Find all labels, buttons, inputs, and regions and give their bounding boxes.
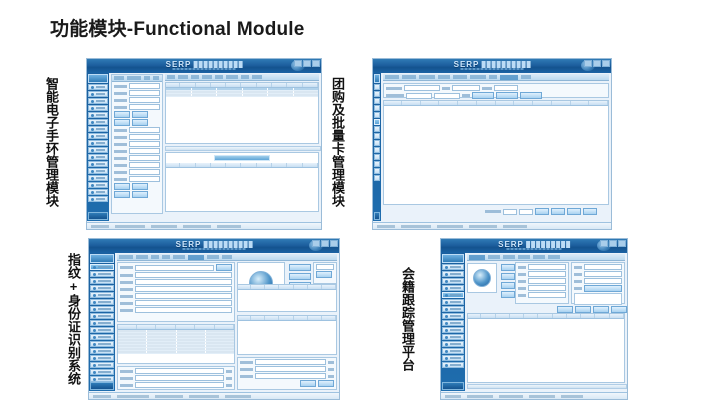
sidebar-item[interactable] <box>374 112 380 118</box>
page-title: 功能模块-Functional Module <box>50 14 305 41</box>
new-button[interactable] <box>557 306 573 313</box>
minimize-button-3[interactable] <box>312 240 320 247</box>
text-input[interactable] <box>129 90 160 96</box>
search-button[interactable] <box>316 271 332 278</box>
action-button[interactable] <box>132 183 148 190</box>
dropdown-select[interactable] <box>528 285 566 291</box>
first-page-button[interactable] <box>535 208 549 215</box>
form-actions-4[interactable] <box>539 306 627 313</box>
search-input[interactable] <box>316 264 334 270</box>
sidebar-item[interactable] <box>88 98 108 104</box>
main-tabbar-1[interactable] <box>165 74 319 81</box>
checkbox[interactable] <box>226 377 232 380</box>
sidebar-item[interactable] <box>88 175 108 181</box>
sidebar-item[interactable] <box>90 313 114 319</box>
sidebar-1[interactable] <box>87 73 109 221</box>
text-input[interactable] <box>135 272 232 278</box>
sidebar-footer-2 <box>374 212 380 220</box>
action-button[interactable] <box>114 191 130 198</box>
sidebar-item[interactable] <box>88 154 108 160</box>
grid-header-row[interactable] <box>468 314 624 319</box>
options-panel-left-3[interactable] <box>117 366 235 390</box>
field-label <box>114 106 127 109</box>
field-label <box>240 375 253 378</box>
checkbox[interactable] <box>328 368 334 371</box>
field-label <box>574 287 582 290</box>
app-window-3[interactable]: SERP <box>88 238 340 400</box>
text-input[interactable] <box>584 278 622 284</box>
text-input[interactable] <box>584 264 622 270</box>
pager-label <box>485 210 501 213</box>
app-subtitle-cn-2 <box>481 61 530 68</box>
member-photo-placeholder <box>473 269 491 287</box>
text-input[interactable] <box>129 155 160 161</box>
close-button-3[interactable] <box>330 240 338 247</box>
field-label <box>574 266 582 269</box>
titlebar-2: SERP <box>373 59 611 73</box>
sidebar-header-3 <box>90 254 114 263</box>
app-subtitle-cn-4 <box>526 241 570 248</box>
text-input[interactable] <box>255 373 326 379</box>
field-label <box>114 129 127 132</box>
maximize-button-3[interactable] <box>321 240 329 247</box>
text-input[interactable] <box>528 271 566 277</box>
text-input[interactable] <box>255 359 326 365</box>
field-label <box>518 294 526 297</box>
grid-header-row[interactable] <box>166 163 318 168</box>
sidebar-item[interactable] <box>88 133 108 139</box>
search-button[interactable] <box>584 285 622 292</box>
text-input[interactable] <box>528 264 566 270</box>
field-label <box>120 302 133 305</box>
sidebar-item[interactable] <box>90 348 114 354</box>
action-button[interactable] <box>501 273 515 280</box>
action-button[interactable] <box>132 111 148 118</box>
next-page-button[interactable] <box>567 208 581 215</box>
text-input[interactable] <box>584 271 622 277</box>
maximize-button-4[interactable] <box>609 240 617 247</box>
photo-panel-4 <box>467 263 497 293</box>
sidebar-item[interactable] <box>90 320 114 326</box>
app-subtitle-2 <box>461 68 524 70</box>
field-label <box>386 87 402 90</box>
field-label <box>120 295 133 298</box>
sidebar-item[interactable] <box>374 84 380 90</box>
text-input[interactable] <box>135 382 224 388</box>
sidebar-item[interactable] <box>374 147 380 153</box>
text-input[interactable] <box>129 83 160 89</box>
field-label <box>574 280 582 283</box>
sidebar-4[interactable] <box>441 253 465 391</box>
sidebar-item[interactable] <box>442 355 464 361</box>
options-panel-right-3[interactable] <box>237 357 337 390</box>
horizontal-scrollbar-1[interactable] <box>165 146 321 151</box>
dropdown-select[interactable] <box>135 307 232 313</box>
panel-4-caption: 会籍跟踪管理平台 <box>392 246 414 392</box>
text-input[interactable] <box>129 169 160 175</box>
sidebar-item[interactable] <box>88 161 108 167</box>
field-label <box>114 85 127 88</box>
app-subtitle-1 <box>173 68 236 70</box>
main-tabbar-2[interactable] <box>383 74 609 81</box>
text-input[interactable] <box>129 127 160 133</box>
minimize-button-4[interactable] <box>600 240 608 247</box>
sidebar-item[interactable] <box>88 168 108 174</box>
prev-page-button[interactable] <box>551 208 565 215</box>
sidebar-item[interactable] <box>90 271 114 277</box>
sidebar-item[interactable] <box>90 292 114 298</box>
last-page-button[interactable] <box>583 208 597 215</box>
statusbar-1 <box>87 222 321 229</box>
minimize-button-1[interactable] <box>294 60 302 67</box>
text-input[interactable] <box>129 141 160 147</box>
statusbar-3 <box>89 392 339 399</box>
sidebar-item[interactable] <box>442 320 464 326</box>
table-row[interactable] <box>118 351 234 354</box>
text-input[interactable] <box>135 286 232 292</box>
sidebar-item[interactable] <box>90 264 114 270</box>
titlebar-3: SERP <box>89 239 339 253</box>
sidebar-item[interactable] <box>442 285 464 291</box>
field-label <box>518 266 526 269</box>
date-from-input[interactable] <box>406 93 432 99</box>
sidebar-item[interactable] <box>442 313 464 319</box>
data-grid-top-1[interactable] <box>165 82 319 144</box>
sidebar-item[interactable] <box>90 306 114 312</box>
app-subtitle-cn-3 <box>203 241 252 248</box>
sidebar-item[interactable] <box>374 98 380 104</box>
maximize-button-2[interactable] <box>593 60 601 67</box>
sidebar-item[interactable] <box>442 292 464 298</box>
data-grid-4[interactable] <box>467 313 625 383</box>
text-input[interactable] <box>135 279 232 285</box>
sidebar-item[interactable] <box>442 278 464 284</box>
selected-tab-strip-1[interactable] <box>214 155 270 161</box>
close-button-2[interactable] <box>602 60 610 67</box>
slide-canvas: 功能模块-Functional Module 智能电子手环管理模块 SERP <box>0 0 711 400</box>
field-label <box>442 87 450 90</box>
field-label <box>120 384 133 387</box>
sidebar-item[interactable] <box>90 341 114 347</box>
delete-button[interactable] <box>593 306 609 313</box>
action-button[interactable] <box>132 191 148 198</box>
date-to-input[interactable] <box>434 93 460 99</box>
app-subtitle-cn-1 <box>193 61 242 68</box>
action-button[interactable] <box>501 282 515 289</box>
sidebar-item[interactable] <box>442 306 464 312</box>
titlebar-4: SERP <box>441 239 627 253</box>
action-button[interactable] <box>501 264 515 271</box>
sidebar-item[interactable] <box>88 147 108 153</box>
capture-button[interactable] <box>289 264 311 271</box>
sidebar-item[interactable] <box>442 341 464 347</box>
member-form-4[interactable] <box>515 262 569 304</box>
sidebar-item[interactable] <box>374 168 380 174</box>
sidebar-item[interactable] <box>88 196 108 202</box>
text-input[interactable] <box>129 104 160 110</box>
export-button[interactable] <box>520 92 542 99</box>
dropdown-select[interactable] <box>494 85 518 91</box>
field-label <box>114 171 127 174</box>
field-label <box>120 309 133 312</box>
app-subtitle-4 <box>507 248 562 250</box>
field-label <box>482 87 492 90</box>
text-input[interactable] <box>129 162 160 168</box>
confirm-button[interactable] <box>300 380 316 387</box>
text-input[interactable] <box>129 97 160 103</box>
contact-form-4[interactable] <box>571 262 625 304</box>
sidebar-header-1 <box>88 74 108 83</box>
field-label <box>120 377 133 380</box>
sidebar-item[interactable] <box>90 334 114 340</box>
action-button[interactable] <box>114 183 130 190</box>
main-tabbar-4[interactable] <box>467 254 625 261</box>
sidebar-item[interactable] <box>374 133 380 139</box>
detail-grid-3[interactable] <box>117 324 235 364</box>
sidebar-item[interactable] <box>88 91 108 97</box>
checkbox[interactable] <box>226 370 232 373</box>
field-label <box>120 266 133 269</box>
text-input[interactable] <box>129 176 160 182</box>
field-label <box>386 94 404 97</box>
field-label <box>114 157 127 160</box>
grid-header-row[interactable] <box>384 101 608 106</box>
action-button[interactable] <box>114 119 130 126</box>
maximize-button-1[interactable] <box>303 60 311 67</box>
sidebar-footer-3 <box>90 382 114 390</box>
close-button-4[interactable] <box>618 240 626 247</box>
sidebar-item[interactable] <box>90 327 114 333</box>
sidebar-2[interactable] <box>373 73 381 221</box>
scan-id-button[interactable] <box>289 273 311 280</box>
records-grid-top-3[interactable] <box>237 284 337 312</box>
text-input[interactable] <box>255 366 326 372</box>
cancel-button[interactable] <box>318 380 334 387</box>
lookup-button[interactable] <box>216 264 232 271</box>
field-label <box>518 287 526 290</box>
text-input[interactable] <box>135 375 224 381</box>
notes-box-4[interactable] <box>574 293 622 305</box>
sidebar-item[interactable] <box>442 264 464 270</box>
sidebar-item[interactable] <box>374 161 380 167</box>
query-button[interactable] <box>611 306 627 313</box>
sidebar-item[interactable] <box>442 271 464 277</box>
window-controls-4[interactable] <box>600 240 626 247</box>
sidebar-item[interactable] <box>374 119 380 125</box>
data-grid-2[interactable] <box>383 100 609 205</box>
sidebar-item[interactable] <box>90 369 114 375</box>
main-tabbar-3[interactable] <box>117 254 337 261</box>
sidebar-item[interactable] <box>442 334 464 340</box>
field-label <box>114 92 127 95</box>
text-input[interactable] <box>135 368 224 374</box>
field-label <box>120 370 133 373</box>
sidebar-footer-4 <box>442 382 464 390</box>
window-controls-3[interactable] <box>312 240 338 247</box>
window-controls-1[interactable] <box>294 60 320 67</box>
sidebar-footer-1 <box>88 212 108 220</box>
window-controls-2[interactable] <box>584 60 610 67</box>
text-input[interactable] <box>135 300 232 306</box>
sidebar-item[interactable] <box>374 154 380 160</box>
titlebar-1: SERP <box>87 59 321 73</box>
action-button[interactable] <box>114 111 130 118</box>
search-panel-2[interactable] <box>383 83 609 98</box>
field-label <box>574 273 582 276</box>
grid-header-row[interactable] <box>238 316 336 321</box>
sidebar-item[interactable] <box>442 299 464 305</box>
field-label <box>114 143 127 146</box>
sidebar-item[interactable] <box>88 84 108 90</box>
text-input[interactable] <box>528 278 566 284</box>
text-input[interactable] <box>129 148 160 154</box>
sidebar-item[interactable] <box>90 278 114 284</box>
data-grid-bottom-1[interactable] <box>165 152 319 212</box>
sidebar-item[interactable] <box>374 126 380 132</box>
search-panel-3[interactable] <box>313 262 337 284</box>
app-window-2[interactable]: SERP <box>372 58 612 230</box>
horizontal-scrollbar-4[interactable] <box>467 384 627 389</box>
sidebar-item[interactable] <box>88 182 108 188</box>
sidebar-item[interactable] <box>90 362 114 368</box>
sidebar-item[interactable] <box>88 105 108 111</box>
sidebar-item[interactable] <box>90 355 114 361</box>
checkbox[interactable] <box>226 384 232 387</box>
app-subtitle-3 <box>183 248 246 250</box>
field-label <box>114 150 127 153</box>
panel-2-caption: 团购及批量卡管理模块 <box>322 62 344 222</box>
sidebar-item[interactable] <box>88 189 108 195</box>
sidebar-item[interactable] <box>374 175 380 181</box>
statusbar-2 <box>373 222 611 229</box>
sidebar-item[interactable] <box>90 299 114 305</box>
field-label <box>240 368 253 371</box>
page-number-input[interactable] <box>503 209 517 215</box>
sidebar-item[interactable] <box>88 126 108 132</box>
minimize-button-2[interactable] <box>584 60 592 67</box>
save-button[interactable] <box>575 306 591 313</box>
sidebar-item[interactable] <box>88 112 108 118</box>
member-form-3[interactable] <box>117 262 235 322</box>
sidebar-header-4 <box>442 254 464 263</box>
sidebar-item[interactable] <box>90 285 114 291</box>
search-button[interactable] <box>472 92 494 99</box>
field-label <box>120 288 133 291</box>
grid-header-row[interactable] <box>238 285 336 290</box>
panel-1-caption: 智能电子手环管理模块 <box>36 62 58 222</box>
search-input[interactable] <box>404 85 440 91</box>
text-input[interactable] <box>135 293 232 299</box>
photo-actions-4[interactable] <box>501 264 515 298</box>
form-panel-1[interactable] <box>111 74 163 214</box>
app-window-4[interactable]: SERP <box>440 238 628 400</box>
sidebar-item[interactable] <box>374 91 380 97</box>
text-input[interactable] <box>452 85 480 91</box>
text-input[interactable] <box>528 292 566 298</box>
sidebar-item[interactable] <box>442 362 464 368</box>
field-label <box>240 361 253 364</box>
field-label <box>114 164 127 167</box>
checkbox[interactable] <box>328 361 334 364</box>
field-label <box>120 281 133 284</box>
text-input[interactable] <box>135 265 214 271</box>
action-button[interactable] <box>132 119 148 126</box>
field-label <box>518 280 526 283</box>
page-size-input[interactable] <box>519 209 533 215</box>
sidebar-item[interactable] <box>374 140 380 146</box>
pager-2[interactable] <box>485 208 609 215</box>
sidebar-item[interactable] <box>88 119 108 125</box>
field-label <box>114 99 127 102</box>
sidebar-item[interactable] <box>374 105 380 111</box>
table-row[interactable] <box>166 94 318 97</box>
sidebar-item[interactable] <box>88 140 108 146</box>
field-label <box>114 178 127 181</box>
sidebar-item[interactable] <box>442 327 464 333</box>
close-button-1[interactable] <box>312 60 320 67</box>
action-button[interactable] <box>501 291 515 298</box>
checkbox[interactable] <box>328 375 334 378</box>
checkbox[interactable] <box>462 94 470 97</box>
sidebar-item[interactable] <box>442 348 464 354</box>
panel-3-caption: 指纹+身份证识别系统 <box>58 246 80 392</box>
field-label <box>518 273 526 276</box>
reset-button[interactable] <box>496 92 518 99</box>
text-input[interactable] <box>129 134 160 140</box>
records-grid-bottom-3[interactable] <box>237 315 337 355</box>
app-window-1[interactable]: SERP <box>86 58 322 230</box>
field-label <box>114 136 127 139</box>
sidebar-3[interactable] <box>89 253 115 391</box>
form-tabbar-1[interactable] <box>112 75 162 82</box>
statusbar-4 <box>441 392 627 399</box>
field-label <box>120 274 133 277</box>
sidebar-header-2 <box>374 74 380 83</box>
